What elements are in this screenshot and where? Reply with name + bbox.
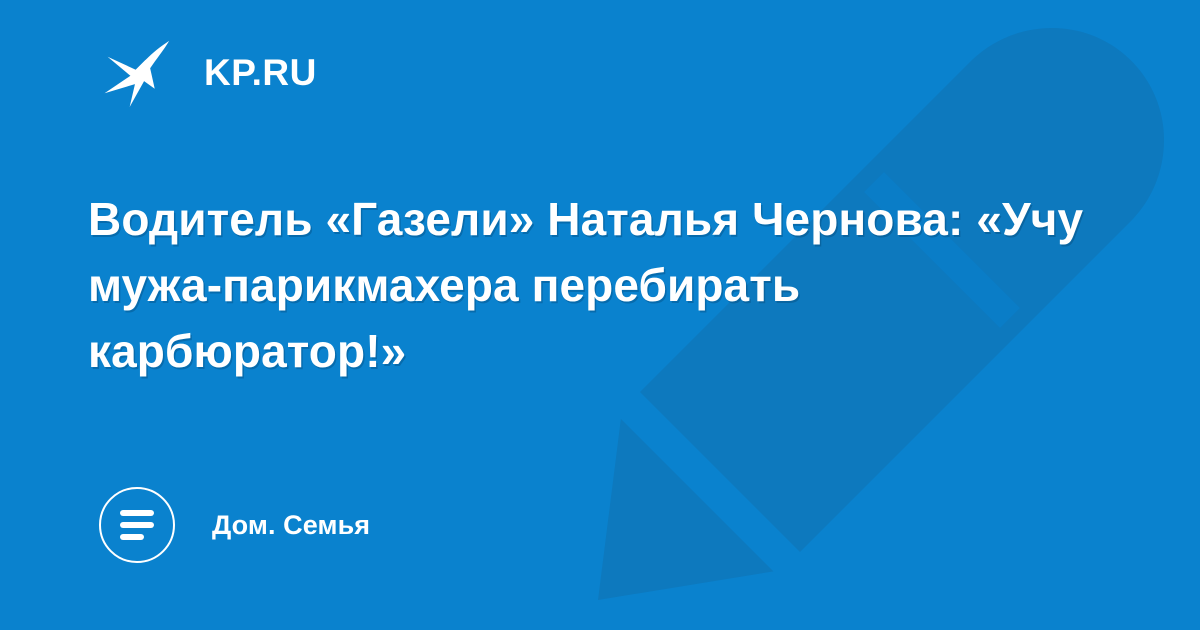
social-share-card: KP.RU Водитель «Газели» Наталья Чернова:… xyxy=(0,0,1200,630)
brand-wordmark: KP.RU xyxy=(204,54,317,91)
hamburger-bar-top xyxy=(120,510,154,516)
swallow-bird-icon xyxy=(100,34,176,110)
hamburger-bar-middle xyxy=(120,522,154,528)
headline-text: Водитель «Газели» Наталья Чернова: «Учу … xyxy=(88,186,1098,384)
rubric-link[interactable]: Дом. Семья xyxy=(99,486,370,564)
hamburger-lines-icon xyxy=(99,487,175,563)
brand-header[interactable]: KP.RU xyxy=(100,34,317,110)
hamburger-bar-bottom xyxy=(120,534,144,540)
rubric-label: Дом. Семья xyxy=(212,512,370,539)
